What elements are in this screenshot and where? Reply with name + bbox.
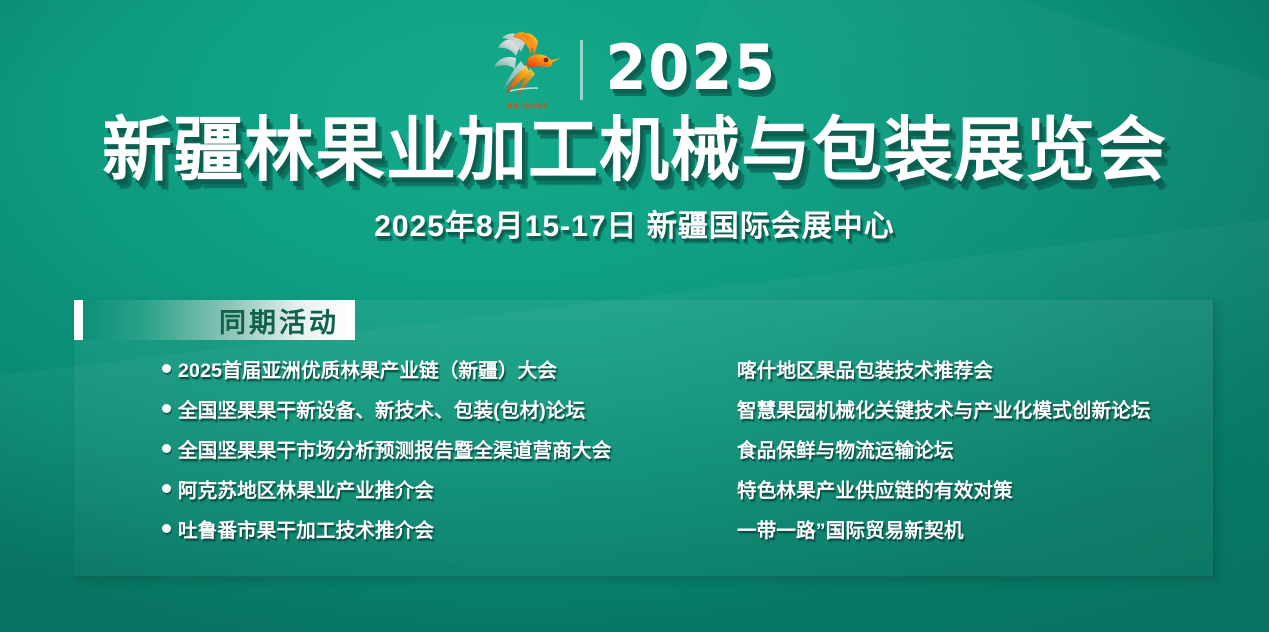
section-header: 同期活动 [74,300,355,340]
list-item[interactable]: 2025首届亚洲优质林果产业链（新疆）大会 [162,348,737,388]
list-item-label: 阿克苏地区林果业产业推介会 [178,474,434,503]
section-header-label: 同期活动 [219,301,339,340]
list-item-label: 食品保鲜与物流运输论坛 [737,434,954,463]
list-item-label: 吐鲁番市果干加工技术推介会 [178,514,434,543]
logo-divider [580,40,583,100]
section-accent-bar [74,300,83,340]
list-item[interactable]: 全国坚果果干市场分析预测报告暨全渠道营商大会 [162,428,737,468]
list-item[interactable]: 特色林果产业供应链的有效对策 [737,468,1193,508]
list-item-label: 全国坚果果干市场分析预测报告暨全渠道营商大会 [178,434,611,463]
event-date-venue: 2025年8月15-17日 新疆国际会展中心 [0,201,1269,245]
activities-left-column: 2025首届亚洲优质林果产业链（新疆）大会 全国坚果果干新设备、新技术、包装(包… [162,348,737,548]
year-badge: 2025 [605,37,777,103]
bullet-icon [162,404,171,413]
list-item-label: 全国坚果果干新设备、新技术、包装(包材)论坛 [178,394,585,423]
bullet-icon [162,444,171,453]
list-item[interactable]: 食品保鲜与物流运输论坛 [737,428,1193,468]
poster-header: 丝路飞鸟文化节 2025 新疆林果业加工机械与包装展览会 2025年8月15-1… [0,28,1269,245]
logo-caption-text: 丝路飞鸟文化节 [495,101,561,109]
list-item[interactable]: 阿克苏地区林果业产业推介会 [162,468,737,508]
activities-lists: 2025首届亚洲优质林果产业链（新疆）大会 全国坚果果干新设备、新技术、包装(包… [74,348,1213,548]
list-item-label: 智慧果园机械化关键技术与产业化模式创新论坛 [737,394,1151,423]
list-item-label: 特色林果产业供应链的有效对策 [737,474,1013,503]
list-item[interactable]: 智慧果园机械化关键技术与产业化模式创新论坛 [737,388,1193,428]
flying-bird-logo-icon: 丝路飞鸟文化节 [488,28,566,112]
bullet-icon [162,484,171,493]
list-item-label: 2025首届亚洲优质林果产业链（新疆）大会 [178,354,557,383]
list-item-label: 一带一路”国际贸易新契机 [737,514,964,543]
list-item[interactable]: 喀什地区果品包装技术推荐会 [737,348,1193,388]
exhibition-poster: 丝路飞鸟文化节 2025 新疆林果业加工机械与包装展览会 2025年8月15-1… [0,0,1269,632]
bullet-icon [162,364,171,373]
activities-right-column: 喀什地区果品包装技术推荐会 智慧果园机械化关键技术与产业化模式创新论坛 食品保鲜… [737,348,1193,548]
page-title: 新疆林果业加工机械与包装展览会 [0,114,1269,187]
list-item-label: 喀什地区果品包装技术推荐会 [737,354,993,383]
bullet-icon [162,524,171,533]
section-header-banner: 同期活动 [83,300,355,340]
list-item[interactable]: 一带一路”国际贸易新契机 [737,508,1193,548]
list-item[interactable]: 吐鲁番市果干加工技术推介会 [162,508,737,548]
list-item[interactable]: 全国坚果果干新设备、新技术、包装(包材)论坛 [162,388,737,428]
brand-row: 丝路飞鸟文化节 2025 [0,28,1269,112]
